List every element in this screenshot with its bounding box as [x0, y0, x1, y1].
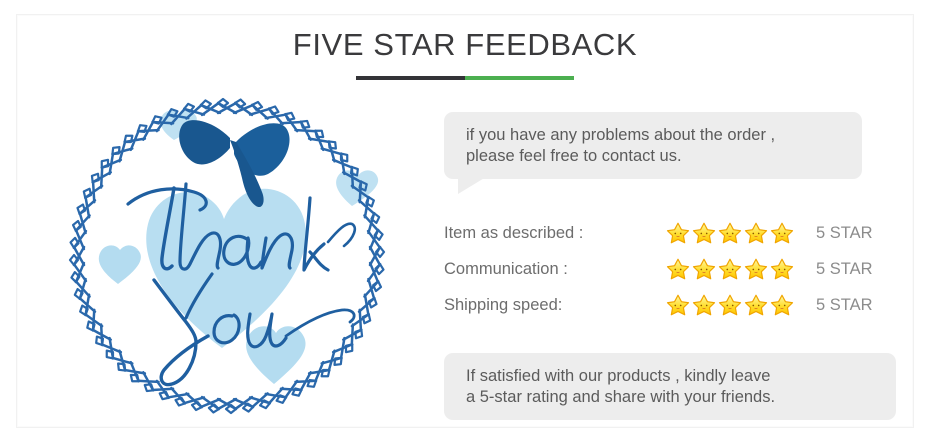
rating-label-shipping-speed: Shipping speed: [444, 287, 666, 323]
star-icon [692, 257, 716, 281]
rating-stars-item-as-described [666, 215, 816, 251]
star-icon [718, 257, 742, 281]
star-icon [666, 257, 690, 281]
rating-value-communication: 5 STAR [816, 251, 900, 287]
page-title: FIVE STAR FEEDBACK [0, 26, 930, 64]
speech-bubble-tail [458, 177, 486, 194]
feedback-banner: FIVE STAR FEEDBACK [0, 0, 930, 442]
feedback-content: if you have any problems about the order… [444, 112, 900, 420]
header: FIVE STAR FEEDBACK [0, 26, 930, 80]
star-icon [692, 221, 716, 245]
table-row: Communication : 5 STAR [444, 251, 900, 287]
rating-value-shipping-speed: 5 STAR [816, 287, 900, 323]
star-icon [744, 293, 768, 317]
star-icon [718, 221, 742, 245]
table-row: Shipping speed: 5 STAR [444, 287, 900, 323]
star-icon [770, 221, 794, 245]
title-underline-dark-segment [356, 76, 465, 80]
rating-label-communication: Communication : [444, 251, 666, 287]
rating-stars-shipping-speed [666, 287, 816, 323]
star-icon [692, 293, 716, 317]
star-icon [770, 257, 794, 281]
table-row: Item as described : 5 STAR [444, 215, 900, 251]
rating-stars-communication [666, 251, 816, 287]
title-underline [356, 76, 574, 80]
rating-value-item-as-described: 5 STAR [816, 215, 900, 251]
small-heart-bottom [246, 326, 305, 384]
contact-speech-bubble: if you have any problems about the order… [444, 112, 862, 179]
star-icon [744, 257, 768, 281]
rating-request-note-text: If satisfied with our products , kindly … [466, 366, 878, 408]
ratings-table-body: Item as described : 5 STAR Communication… [444, 215, 900, 323]
thank-you-illustration [62, 88, 392, 418]
rating-label-item-as-described: Item as described : [444, 215, 666, 251]
title-underline-green-segment [465, 76, 574, 80]
star-icon [666, 221, 690, 245]
rating-request-note: If satisfied with our products , kindly … [444, 353, 896, 420]
star-icon [718, 293, 742, 317]
small-heart-left [99, 245, 141, 284]
star-icon [744, 221, 768, 245]
contact-speech-bubble-text: if you have any problems about the order… [466, 125, 844, 167]
star-icon [666, 293, 690, 317]
star-icon [770, 293, 794, 317]
ratings-table: Item as described : 5 STAR Communication… [444, 215, 900, 323]
